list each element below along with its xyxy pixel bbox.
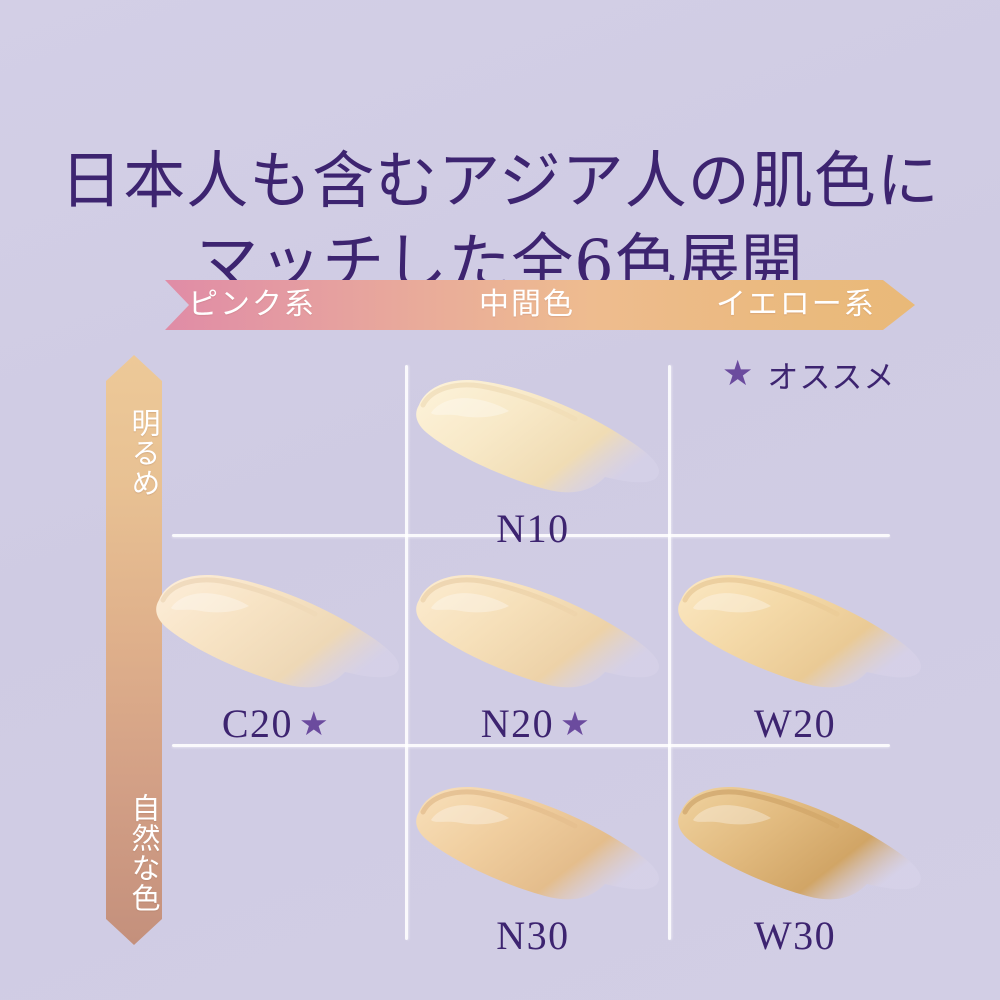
shade-label-n10: N10: [405, 505, 667, 552]
star-icon: ★: [722, 357, 754, 392]
shade-label-w30: W30: [667, 912, 929, 959]
swatch-w20: [667, 560, 929, 710]
shade-label-n30: N30: [405, 912, 667, 959]
swatch-smear-icon: [405, 772, 667, 922]
page-title: 日本人も含むアジア人の肌色に マッチした全6色展開: [0, 58, 1000, 385]
shade-cell-w30[interactable]: W30: [667, 772, 929, 982]
swatch-n10: [405, 365, 667, 515]
swatch-c20: [145, 560, 407, 710]
swatch-smear-icon: [145, 560, 407, 710]
swatch-w30: [667, 772, 929, 922]
recommended-legend-label: オススメ: [767, 352, 895, 397]
shade-label-c20: C20★: [145, 700, 407, 747]
shade-label-w20: W20: [667, 700, 929, 747]
swatch-body: [678, 787, 921, 899]
shade-name: N30: [496, 913, 569, 958]
swatch-n30: [405, 772, 667, 922]
swatch-smear-icon: [667, 560, 929, 710]
swatch-body: [156, 575, 399, 687]
undertone-label-pink: ピンク系: [188, 280, 316, 330]
brightness-label-natural: 自然な色: [106, 778, 162, 928]
shade-name: N20: [481, 701, 554, 746]
headline-line-1: 日本人も含むアジア人の肌色に: [60, 144, 940, 217]
undertone-label-yellow: イエロー系: [716, 280, 876, 330]
shade-name: W20: [754, 701, 836, 746]
swatch-body: [416, 787, 659, 899]
swatch-smear-icon: [667, 772, 929, 922]
shade-name: W30: [754, 913, 836, 958]
shade-cell-n30[interactable]: N30: [405, 772, 667, 982]
swatch-body: [416, 380, 659, 492]
shade-star-icon: ★: [560, 707, 591, 743]
swatch-n20: [405, 560, 667, 710]
swatch-body: [416, 575, 659, 687]
infographic-canvas: 日本人も含むアジア人の肌色に マッチした全6色展開 ピンク系 中間色 イエロー系…: [0, 0, 1000, 1000]
swatch-body: [678, 575, 921, 687]
shade-name: N10: [496, 506, 569, 551]
shade-cell-w20[interactable]: W20: [667, 560, 929, 770]
swatch-smear-icon: [405, 365, 667, 515]
shade-name: C20: [222, 701, 293, 746]
brightness-label-light: 明るめ: [106, 378, 162, 528]
shade-cell-n10[interactable]: N10: [405, 365, 667, 575]
shade-cell-c20[interactable]: C20★: [145, 560, 407, 770]
shade-cell-n20[interactable]: N20★: [405, 560, 667, 770]
swatch-smear-icon: [405, 560, 667, 710]
recommended-legend: ★ オススメ: [722, 352, 895, 397]
undertone-label-neutral: 中間色: [479, 280, 575, 330]
shade-star-icon: ★: [299, 707, 330, 743]
shade-label-n20: N20★: [405, 700, 667, 747]
